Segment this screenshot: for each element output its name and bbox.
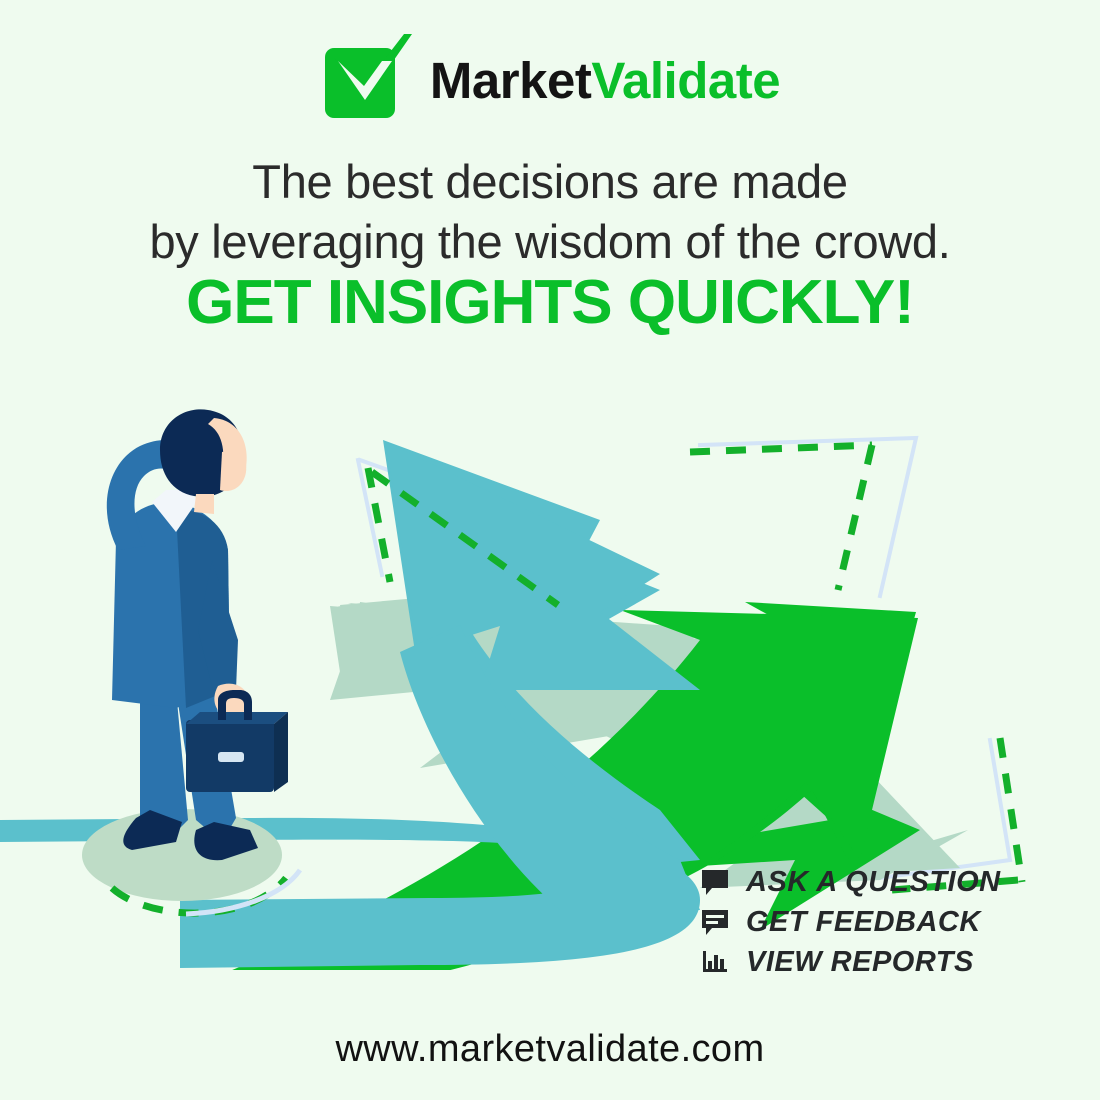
feature-item-ask-a-question[interactable]: ASK A QUESTION xyxy=(700,862,1030,902)
subheadline: GET INSIGHTS QUICKLY! xyxy=(0,272,1100,334)
poster-canvas: MarketValidate The best decisions are ma… xyxy=(0,0,1100,1100)
brand-word-validate: Validate xyxy=(591,52,780,109)
feature-label-ask-a-question: ASK A QUESTION xyxy=(746,866,1001,899)
bar-chart-icon xyxy=(700,948,730,976)
feature-list: ASK A QUESTION GET FEEDBACK xyxy=(700,862,1030,982)
headline-line-2: by leveraging the wisdom of the crowd. xyxy=(0,212,1100,272)
businessman-figure xyxy=(82,409,300,914)
feature-label-get-feedback: GET FEEDBACK xyxy=(746,906,981,939)
headline-line-1: The best decisions are made xyxy=(0,152,1100,212)
brand-logo: MarketValidate xyxy=(0,34,1100,126)
feedback-bubble-lines-icon xyxy=(700,908,730,936)
headline: The best decisions are made by leveragin… xyxy=(0,152,1100,272)
brand-wordmark: MarketValidate xyxy=(430,55,780,106)
speech-bubble-filled-icon xyxy=(700,868,730,896)
feature-item-view-reports[interactable]: VIEW REPORTS xyxy=(700,942,1030,982)
green-checkmark-square-icon xyxy=(320,34,412,126)
feature-label-view-reports: VIEW REPORTS xyxy=(746,946,974,979)
website-url[interactable]: www.marketvalidate.com xyxy=(0,1028,1100,1071)
feature-item-get-feedback[interactable]: GET FEEDBACK xyxy=(700,902,1030,942)
brand-word-market: Market xyxy=(430,52,591,109)
